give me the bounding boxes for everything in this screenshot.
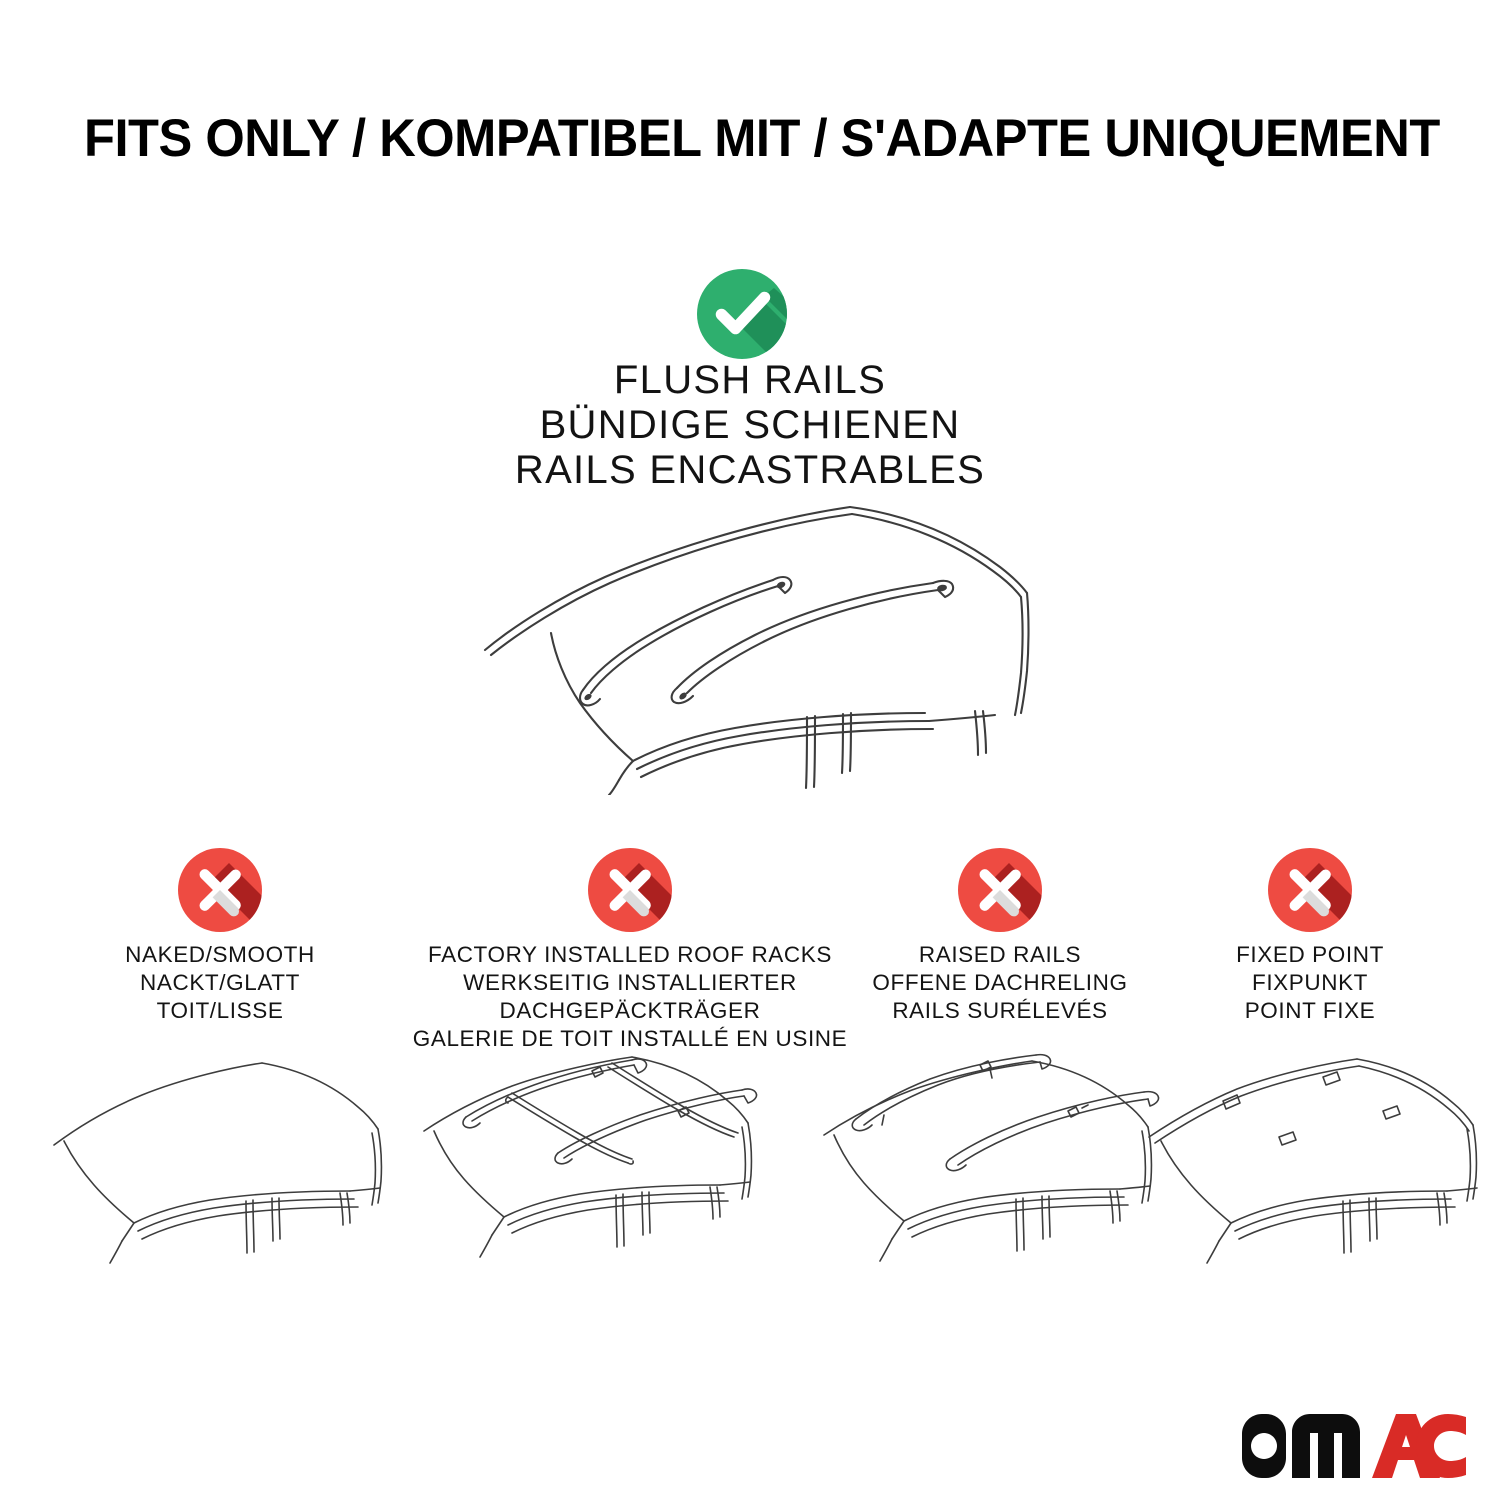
infographic-page: FITS ONLY / KOMPATIBEL MIT / S'ADAPTE UN…	[0, 0, 1500, 1500]
car-roof-with-raised-rails-illustration	[820, 1053, 1170, 1273]
x-circle-icon	[585, 845, 675, 935]
check-circle-icon	[694, 266, 790, 362]
incompatible-label-fixed-point: FIXED POINT FIXPUNKT POINT FIXE	[1135, 941, 1485, 1025]
label-line-2: OFFENE DACHRELING	[820, 969, 1180, 997]
compatible-label-line-1: FLUSH RAILS	[250, 358, 1250, 403]
incompatible-label-naked-smooth: NAKED/SMOOTH NACKT/GLATT TOIT/LISSE	[40, 941, 400, 1025]
x-circle-icon	[955, 845, 1045, 935]
incompatible-label-factory-roof-racks: FACTORY INSTALLED ROOF RACKS WERKSEITIG …	[395, 941, 865, 1053]
incompatible-label-raised-rails: RAISED RAILS OFFENE DACHRELING RAILS SUR…	[820, 941, 1180, 1025]
label-line-2: FIXPUNKT	[1135, 969, 1485, 997]
label-line-3: DACHGEPÄCKTRÄGER	[395, 997, 865, 1025]
car-roof-bare-illustration	[50, 1053, 400, 1273]
page-title: FITS ONLY / KOMPATIBEL MIT / S'ADAPTE UN…	[84, 108, 1364, 170]
x-circle-icon	[1265, 845, 1355, 935]
label-line-4: GALERIE DE TOIT INSTALLÉ EN USINE	[395, 1025, 865, 1053]
compatible-label-line-2: BÜNDIGE SCHIENEN	[250, 403, 1250, 448]
label-line-1: FACTORY INSTALLED ROOF RACKS	[395, 941, 865, 969]
label-line-3: RAILS SURÉLEVÉS	[820, 997, 1180, 1025]
car-roof-with-crossbars-illustration	[420, 1053, 770, 1273]
label-line-2: WERKSEITIG INSTALLIERTER	[395, 969, 865, 997]
car-roof-with-fixed-points-illustration	[1145, 1053, 1495, 1273]
label-line-1: NAKED/SMOOTH	[40, 941, 400, 969]
car-roof-with-flush-rails-illustration	[455, 485, 1045, 795]
label-line-1: RAISED RAILS	[820, 941, 1180, 969]
label-line-3: POINT FIXE	[1135, 997, 1485, 1025]
label-line-3: TOIT/LISSE	[40, 997, 400, 1025]
label-line-1: FIXED POINT	[1135, 941, 1485, 969]
omac-logo	[1238, 1414, 1466, 1478]
x-circle-icon	[175, 845, 265, 935]
compatible-label: FLUSH RAILS BÜNDIGE SCHIENEN RAILS ENCAS…	[250, 358, 1250, 493]
label-line-2: NACKT/GLATT	[40, 969, 400, 997]
